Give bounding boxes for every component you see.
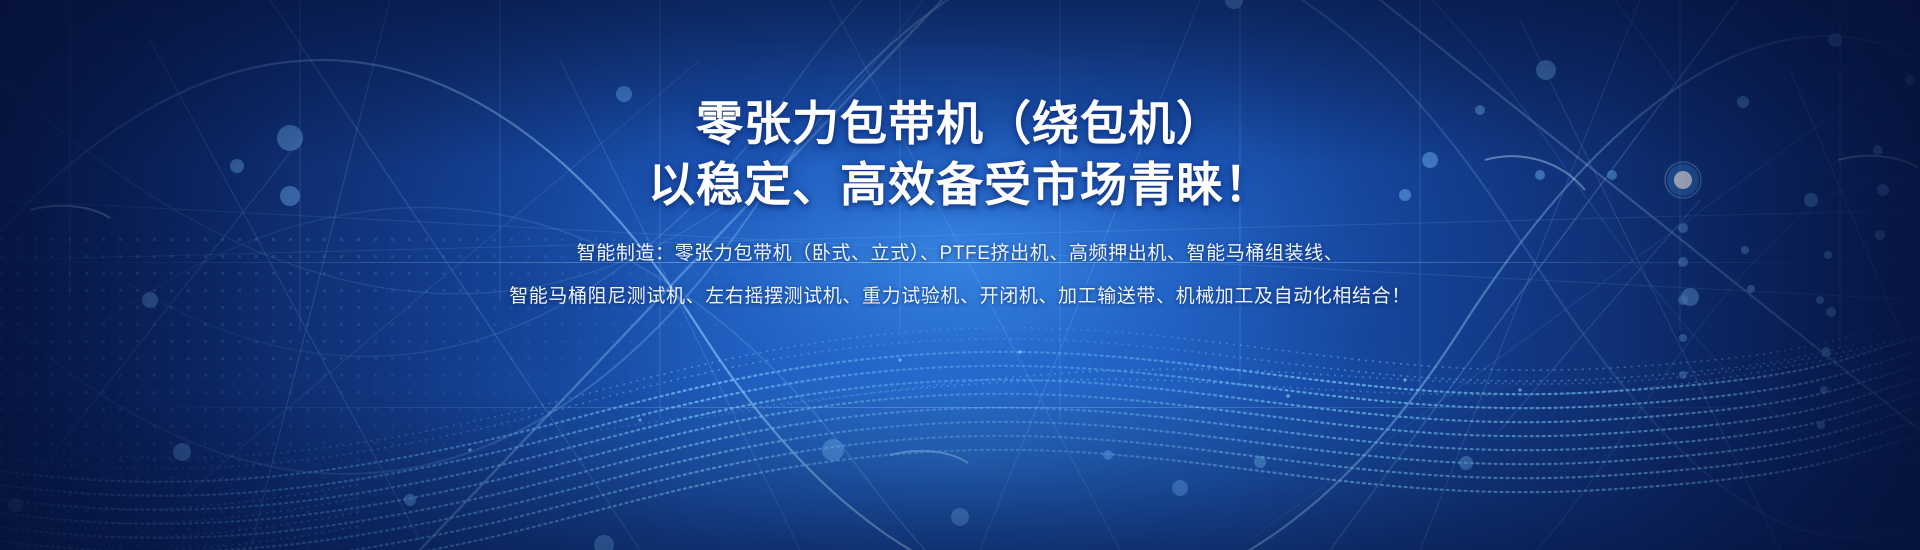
hero-banner: 零张力包带机（绕包机） 以稳定、高效备受市场青睐！ 智能制造：零张力包带机（卧式… [0,0,1920,550]
banner-title-line-2: 以稳定、高效备受市场青睐！ [0,157,1920,212]
banner-subtitle-line-1: 智能制造：零张力包带机（卧式、立式）、PTFE挤出机、高频押出机、智能马桶组装线… [0,239,1920,268]
banner-content: 零张力包带机（绕包机） 以稳定、高效备受市场青睐！ 智能制造：零张力包带机（卧式… [0,96,1920,312]
banner-title-line-1: 零张力包带机（绕包机） [0,96,1920,151]
horizon-line-lower [0,407,1920,408]
banner-subtitle: 智能制造：零张力包带机（卧式、立式）、PTFE挤出机、高频押出机、智能马桶组装线… [0,239,1920,312]
bottom-radial-glow [260,310,1660,550]
banner-subtitle-line-2: 智能马桶阻尼测试机、左右摇摆测试机、重力试验机、开闭机、加工输送带、机械加工及自… [0,282,1920,311]
